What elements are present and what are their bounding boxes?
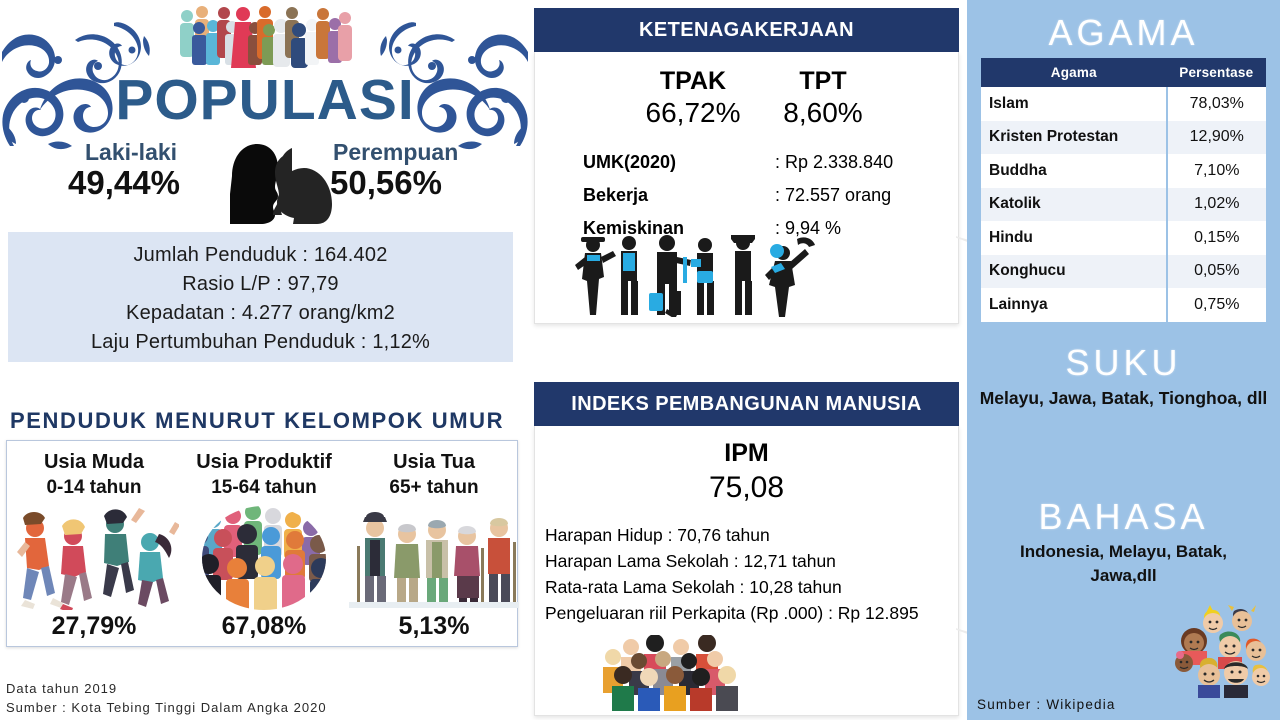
age-groups-heading: PENDUDUK MENURUT KELOMPOK UMUR (10, 408, 520, 434)
table-row: Hindu 0,15% (981, 221, 1266, 255)
religion-percentage: 1,02% (1167, 188, 1266, 222)
employment-row-value: : Rp 2.338.840 (775, 152, 893, 173)
employment-row: UMK(2020) : Rp 2.338.840 (535, 152, 958, 185)
table-row: Katolik 1,02% (981, 188, 1266, 222)
table-header-row: Agama Persentase (981, 58, 1266, 87)
age-group-title: Usia Tua (349, 449, 519, 475)
footer-source: Data tahun 2019 Sumber : Kota Tebing Tin… (6, 679, 436, 717)
ipm-metric: IPM 75,08 (535, 438, 958, 506)
hdi-panel-body: IPM 75,08 Harapan Hidup : 70,76 tahun Ha… (534, 426, 959, 716)
population-column: POPULASI Laki-laki 49,44% Perempuan 50,5… (0, 0, 530, 720)
female-label: Perempuan (333, 139, 458, 166)
age-group-title: Usia Produktif (179, 449, 349, 475)
religion-name: Hindu (981, 221, 1167, 255)
stat-line: Laju Pertumbuhan Penduduk : 1,12% (8, 328, 513, 357)
age-groups-card: Usia Muda 0-14 tahun (6, 440, 518, 647)
age-group-range: 65+ tahun (349, 475, 519, 500)
crowd-illustration (179, 502, 349, 610)
column-header-persentase: Persentase (1167, 58, 1266, 87)
gender-split: Laki-laki 49,44% Perempuan 50,56% (0, 138, 530, 220)
age-group-title: Usia Muda (9, 449, 179, 475)
male-female-silhouette-icon (222, 132, 332, 224)
religion-percentage: 0,05% (1167, 255, 1266, 289)
age-group-young: Usia Muda 0-14 tahun (9, 449, 179, 641)
wikipedia-source: Sumber : Wikipedia (977, 697, 1116, 712)
employment-row-label: Bekerja (583, 185, 648, 206)
population-stats-box: Jumlah Penduduk : 164.402 Rasio L/P : 97… (8, 232, 513, 362)
religion-name: Islam (981, 87, 1167, 121)
religion-percentage: 7,10% (1167, 154, 1266, 188)
hdi-panel-header: INDEKS PEMBANGUNAN MANUSIA (534, 382, 959, 426)
tpt-value: 8,60% (763, 96, 883, 130)
demographics-panel: AGAMA Agama Persentase Islam 78,03% Kris… (967, 0, 1280, 720)
age-group-productive: Usia Produktif 15-64 tahun (179, 449, 349, 641)
hdi-line: Pengeluaran riil Perkapita (Rp .000) : R… (545, 600, 955, 626)
suku-list: Melayu, Jawa, Batak, Tionghoa, dll (975, 386, 1272, 410)
tpak-metric: TPAK 66,72% (623, 66, 763, 130)
hdi-line: Rata-rata Lama Sekolah : 10,28 tahun (545, 574, 955, 600)
agama-section-title: AGAMA (967, 12, 1280, 54)
middle-column: KETENAGAKERJAAN TPAK 66,72% TPT 8,60% UM… (530, 0, 965, 720)
religion-name: Konghucu (981, 255, 1167, 289)
age-group-percentage: 5,13% (349, 612, 519, 641)
employment-row-value: : 72.557 orang (775, 185, 891, 206)
elderly-people-illustration (349, 502, 519, 610)
workers-silhouette-illustration (571, 231, 821, 317)
religion-percentage: 78,03% (1167, 87, 1266, 121)
tpak-value: 66,72% (623, 96, 763, 130)
age-group-range: 15-64 tahun (179, 475, 349, 500)
age-group-percentage: 27,79% (9, 612, 179, 641)
stat-line: Kepadatan : 4.277 orang/km2 (8, 299, 513, 328)
hdi-panel: INDEKS PEMBANGUNAN MANUSIA IPM 75,08 Har… (534, 382, 959, 716)
footer-line-2: Sumber : Kota Tebing Tinggi Dalam Angka … (6, 698, 436, 717)
male-label: Laki-laki (85, 139, 177, 166)
tpak-label: TPAK (623, 66, 763, 96)
tpt-metric: TPT 8,60% (763, 66, 883, 130)
table-row: Islam 78,03% (981, 87, 1266, 121)
page-title: POPULASI (0, 72, 530, 129)
bahasa-list: Indonesia, Melayu, Batak, Jawa,dll (985, 540, 1262, 588)
female-percentage: 50,56% (330, 164, 442, 202)
religion-name: Buddha (981, 154, 1167, 188)
traditional-costume-faces-illustration (1166, 603, 1276, 698)
hdi-line: Harapan Lama Sekolah : 12,71 tahun (545, 548, 955, 574)
hdi-detail-lines: Harapan Hidup : 70,76 tahun Harapan Lama… (545, 522, 955, 626)
employment-row: Bekerja : 72.557 orang (535, 185, 958, 218)
tpt-label: TPT (763, 66, 883, 96)
religion-percentage: 0,75% (1167, 288, 1266, 322)
infographic-page: POPULASI Laki-laki 49,44% Perempuan 50,5… (0, 0, 1280, 720)
religion-name: Lainnya (981, 288, 1167, 322)
diverse-people-illustration (597, 635, 777, 711)
hdi-line: Harapan Hidup : 70,76 tahun (545, 522, 955, 548)
religion-percentage: 12,90% (1167, 121, 1266, 155)
religion-name: Kristen Protestan (981, 121, 1167, 155)
employment-row-label: UMK(2020) (583, 152, 676, 173)
stat-line: Rasio L/P : 97,79 (8, 270, 513, 299)
stat-line: Jumlah Penduduk : 164.402 (8, 241, 513, 270)
religion-table: Agama Persentase Islam 78,03% Kristen Pr… (981, 58, 1266, 322)
employment-panel-body: TPAK 66,72% TPT 8,60% UMK(2020) : Rp 2.3… (534, 52, 959, 324)
suku-section-title: SUKU (967, 342, 1280, 384)
religion-percentage: 0,15% (1167, 221, 1266, 255)
ipm-label: IPM (535, 438, 958, 469)
table-row: Lainnya 0,75% (981, 288, 1266, 322)
bahasa-section-title: BAHASA (967, 496, 1280, 538)
age-group-elderly: Usia Tua 65+ tahun (349, 449, 519, 641)
footer-line-1: Data tahun 2019 (6, 679, 436, 698)
table-row: Kristen Protestan 12,90% (981, 121, 1266, 155)
employment-panel: KETENAGAKERJAAN TPAK 66,72% TPT 8,60% UM… (534, 8, 959, 324)
table-row: Buddha 7,10% (981, 154, 1266, 188)
age-group-range: 0-14 tahun (9, 475, 179, 500)
table-row: Konghucu 0,05% (981, 255, 1266, 289)
male-percentage: 49,44% (68, 164, 180, 202)
employment-panel-header: KETENAGAKERJAAN (534, 8, 959, 52)
young-people-illustration (9, 502, 179, 610)
religion-name: Katolik (981, 188, 1167, 222)
column-header-agama: Agama (981, 58, 1167, 87)
age-group-percentage: 67,08% (179, 612, 349, 641)
ipm-value: 75,08 (535, 469, 958, 506)
